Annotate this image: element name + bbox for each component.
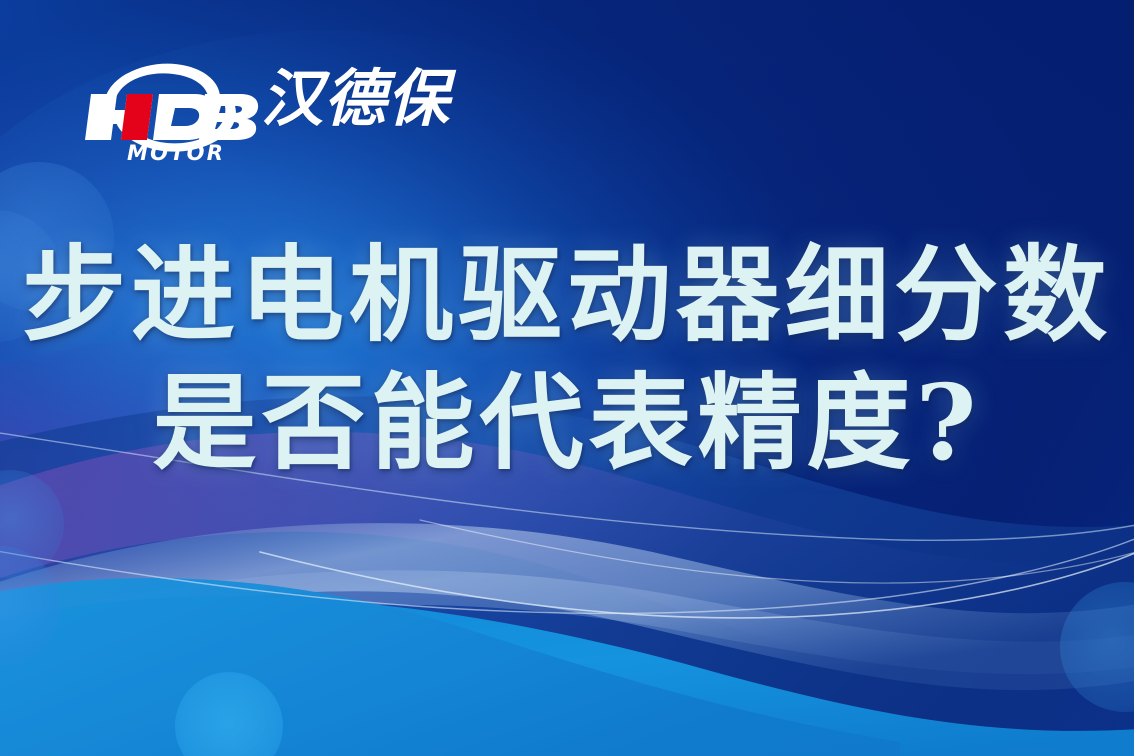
poster-title: 步进电机驱动器细分数 是否能代表精度? — [0, 238, 1134, 481]
hdb-motor-logo-icon: MOTOR — [75, 48, 265, 166]
title-line-1: 步进电机驱动器细分数 — [0, 238, 1134, 352]
logo-chinese-name: 汉德保 — [261, 68, 450, 130]
title-line-2: 是否能代表精度? — [0, 366, 1134, 480]
poster-canvas: MOTOR 汉德保 步进电机驱动器细分数 是否能代表精度? — [0, 0, 1134, 756]
logo-motor-text: MOTOR — [127, 141, 225, 165]
brand-logo: MOTOR 汉德保 — [75, 48, 455, 166]
